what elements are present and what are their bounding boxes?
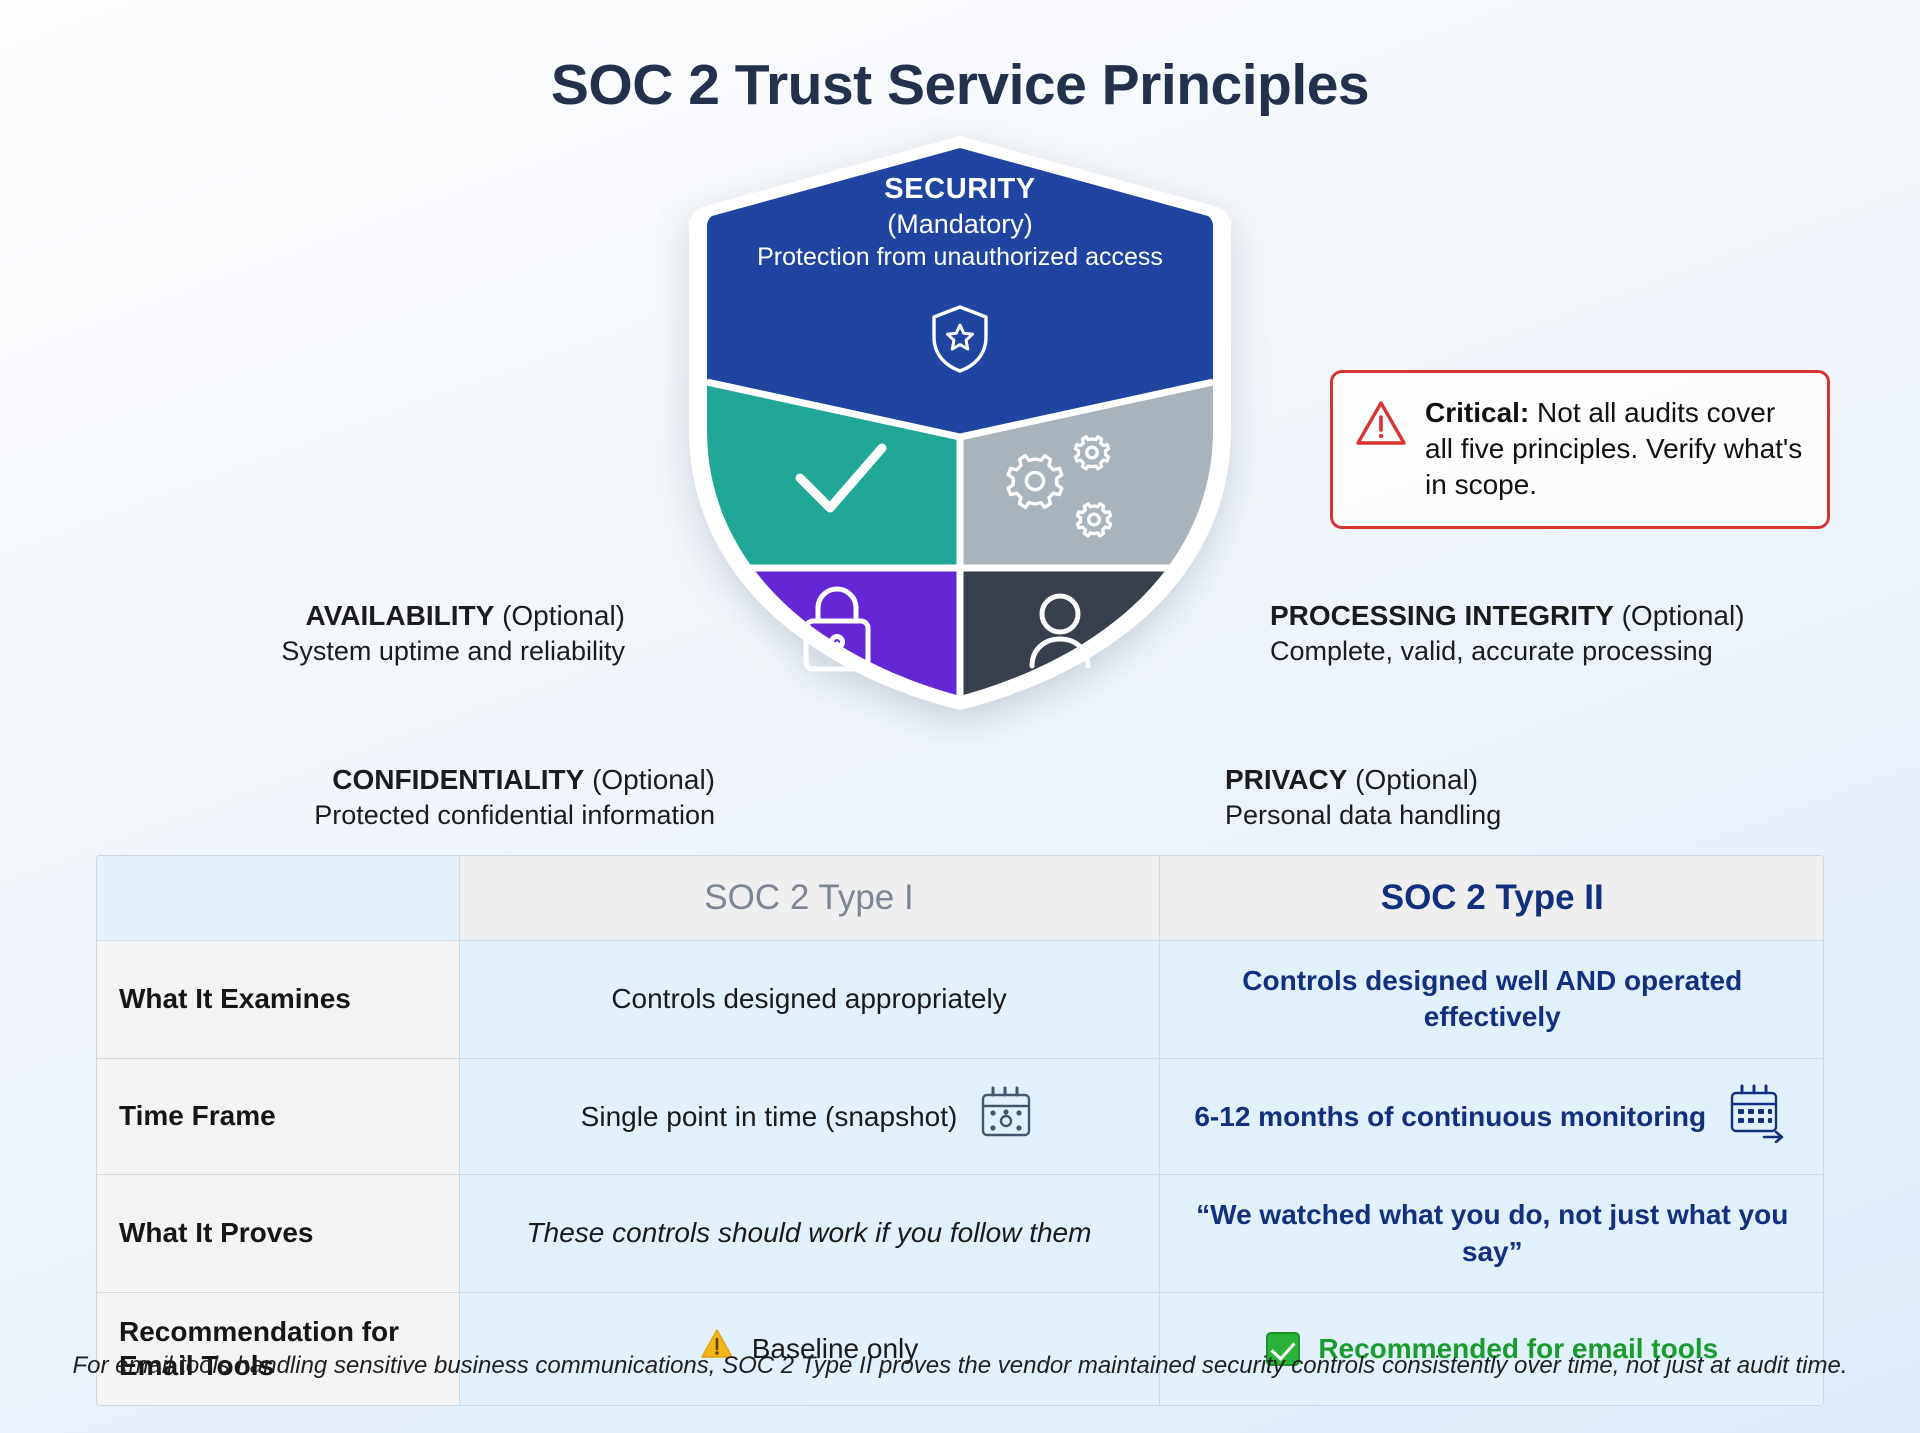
comparison-table: SOC 2 Type I SOC 2 Type II What It Exami… [96, 855, 1824, 1406]
label-availability-name: AVAILABILITY [306, 600, 495, 631]
shield-diagram: SECURITY (Mandatory) Protection from una… [0, 130, 1920, 690]
label-processing-integrity: PROCESSING INTEGRITY (Optional) Complete… [1270, 598, 1910, 669]
cell-type2-what-it-examines: Controls designed well AND operated effe… [1159, 941, 1824, 1059]
row-label-recommendation: Recommendation for Email Tools [97, 1292, 459, 1405]
label-processing-integrity-name: PROCESSING INTEGRITY [1270, 600, 1614, 631]
label-availability: AVAILABILITY (Optional) System uptime an… [0, 598, 660, 669]
label-processing-integrity-title: PROCESSING INTEGRITY (Optional) [1270, 598, 1910, 634]
footer-note: For email tools handling sensitive busin… [0, 1352, 1920, 1380]
table-row: Time Frame Single point in time (snapsho… [97, 1058, 1824, 1174]
cell-type1-time-frame-text: Single point in time (snapshot) [581, 1099, 958, 1135]
cell-type1-what-it-proves: These controls should work if you follow… [459, 1175, 1159, 1293]
table-row: What It Examines Controls designed appro… [97, 941, 1824, 1059]
table-row: What It Proves These controls should wor… [97, 1175, 1824, 1293]
label-privacy-status: (Optional) [1355, 764, 1478, 795]
cell-type1-recommendation: Baseline only [459, 1292, 1159, 1405]
calendar-range-icon [1724, 1081, 1790, 1152]
critical-callout: Critical: Not all audits cover all five … [1330, 370, 1830, 529]
table-header-type2-label: SOC 2 Type II [1381, 878, 1604, 917]
label-privacy: PRIVACY (Optional) Personal data handlin… [1225, 762, 1915, 833]
cell-type2-time-frame: 6-12 months of continuous monitoring [1159, 1058, 1824, 1174]
cell-type2-time-frame-text: 6-12 months of continuous monitoring [1194, 1099, 1706, 1135]
label-processing-integrity-desc: Complete, valid, accurate processing [1270, 634, 1910, 669]
label-availability-status: (Optional) [502, 600, 625, 631]
table-header-blank [97, 856, 459, 941]
critical-callout-text: Critical: Not all audits cover all five … [1425, 395, 1803, 502]
cell-type1-what-it-examines: Controls designed appropriately [459, 941, 1159, 1059]
label-confidentiality-title: CONFIDENTIALITY (Optional) [0, 762, 715, 798]
label-processing-integrity-status: (Optional) [1622, 600, 1745, 631]
calendar-day-icon [975, 1081, 1037, 1152]
label-availability-desc: System uptime and reliability [0, 634, 625, 669]
quadrant-security [707, 130, 1213, 435]
label-confidentiality-name: CONFIDENTIALITY [332, 764, 584, 795]
label-confidentiality-status: (Optional) [592, 764, 715, 795]
trust-principles-shield: SECURITY (Mandatory) Protection from una… [660, 130, 1260, 710]
critical-lead: Critical: [1425, 397, 1529, 428]
table-header-type2: SOC 2 Type II [1159, 856, 1824, 941]
page-title: SOC 2 Trust Service Principles [0, 0, 1920, 118]
label-privacy-name: PRIVACY [1225, 764, 1347, 795]
cell-type2-recommendation: Recommended for email tools [1159, 1292, 1824, 1405]
table-header-type1: SOC 2 Type I [459, 856, 1159, 941]
label-confidentiality-desc: Protected confidential information [0, 798, 715, 833]
row-label-what-it-proves: What It Proves [97, 1175, 459, 1293]
row-label-what-it-examines: What It Examines [97, 941, 459, 1059]
label-confidentiality: CONFIDENTIALITY (Optional) Protected con… [0, 762, 715, 833]
table-row: Recommendation for Email Tools Baseline … [97, 1292, 1824, 1405]
row-label-time-frame: Time Frame [97, 1058, 459, 1174]
label-privacy-desc: Personal data handling [1225, 798, 1915, 833]
cell-type2-what-it-proves: “We watched what you do, not just what y… [1159, 1175, 1824, 1293]
warning-triangle-icon [1355, 399, 1407, 452]
label-privacy-title: PRIVACY (Optional) [1225, 762, 1915, 798]
table-header-type1-label: SOC 2 Type I [704, 878, 913, 917]
table-header-row: SOC 2 Type I SOC 2 Type II [97, 856, 1824, 941]
label-availability-title: AVAILABILITY (Optional) [0, 598, 625, 634]
cell-type1-time-frame: Single point in time (snapshot) [459, 1058, 1159, 1174]
